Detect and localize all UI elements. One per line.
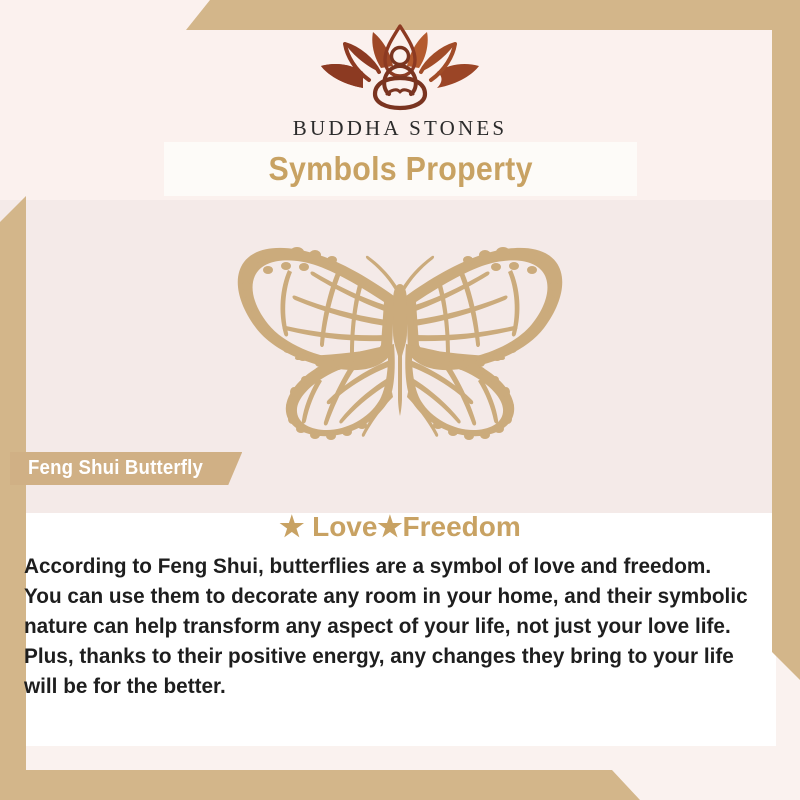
body-paragraph: According to Feng Shui, butterflies are … (24, 551, 754, 701)
lotus-meditation-figure-icon (305, 22, 495, 114)
feng-shui-banner-label: Feng Shui Butterfly (28, 457, 203, 480)
poster-root: BUDDHA STONES Symbols Property (0, 0, 800, 800)
feng-shui-banner: Feng Shui Butterfly (10, 452, 242, 485)
decorative-frame-left (0, 196, 26, 800)
brand-logo: BUDDHA STONES (0, 22, 800, 141)
page-title: Symbols Property (268, 150, 532, 188)
decorative-frame-bottom (0, 770, 640, 800)
brand-name: BUDDHA STONES (0, 116, 800, 141)
title-band: Symbols Property (164, 142, 637, 196)
love-freedom-headline: ★ Love★Freedom (0, 510, 800, 543)
butterfly-icon (222, 240, 578, 440)
